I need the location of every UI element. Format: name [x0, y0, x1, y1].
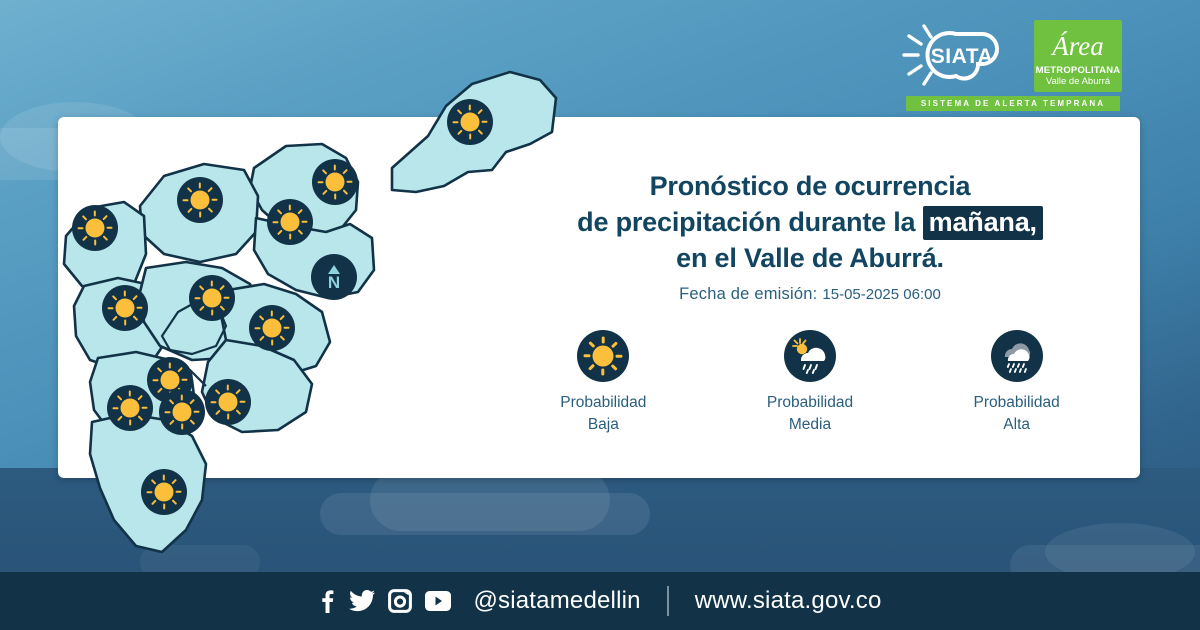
sun-ray — [171, 479, 177, 485]
sun-ray — [289, 205, 291, 211]
map-marker-sun-icon — [72, 205, 118, 251]
sun-ray — [342, 169, 348, 175]
sun-ray — [151, 479, 157, 485]
sun-ray — [212, 199, 218, 201]
siata-tagline: SISTEMA DE ALERTA TEMPRANA — [906, 96, 1120, 111]
sun-ray — [211, 401, 217, 403]
sun-ray — [318, 181, 324, 183]
sun-ray — [147, 491, 153, 493]
sun-ray — [227, 385, 229, 391]
sun-ray — [171, 499, 177, 505]
sun-ray — [187, 187, 193, 193]
emission-value: 15-05-2025 06:00 — [822, 286, 940, 303]
map-marker-sun-icon — [159, 389, 205, 435]
sun-ray — [112, 295, 118, 301]
siata-logo-icon: SIATA — [898, 18, 1026, 92]
legend-item-media: Probabilidad Media — [727, 330, 892, 436]
sun-ray — [334, 165, 336, 171]
sun-ray — [207, 187, 213, 193]
sun-ray — [129, 420, 131, 426]
sun-ray — [107, 227, 113, 229]
legend-media-line2: Media — [727, 414, 892, 436]
sun-ray — [279, 315, 285, 321]
twitter-icon[interactable] — [349, 589, 375, 613]
map-marker-sun-icon — [267, 199, 313, 245]
footer-bar: @siatamedellin www.siata.gov.co — [0, 572, 1200, 630]
sun-ray — [157, 387, 163, 393]
sun-ray — [137, 395, 143, 401]
sun-core — [263, 319, 282, 338]
sun-ray — [169, 399, 175, 405]
sun-ray — [102, 215, 108, 221]
sun-ray — [132, 315, 138, 321]
compass-rose-icon: N — [311, 254, 357, 300]
sun-cloud-rain-glyph — [784, 330, 836, 382]
sun-ray — [259, 335, 265, 341]
valle-de-aburra-map: N — [40, 40, 560, 570]
map-marker-sun-icon — [312, 159, 358, 205]
sun-ray — [189, 419, 195, 425]
sun-ray — [199, 212, 201, 218]
sun-core — [121, 399, 140, 418]
sun-core — [191, 191, 210, 210]
sun-ray — [117, 415, 123, 421]
area-metropolitana-logo: Área METROPOLITANA Valle de Aburrá — [1034, 20, 1122, 92]
sun-core — [203, 289, 222, 308]
sun-ray — [322, 189, 328, 195]
sun-ray — [297, 229, 303, 235]
sun-ray — [469, 105, 471, 111]
sun-ray — [271, 340, 273, 346]
sun-ray — [181, 424, 183, 430]
legend-baja-line2: Baja — [521, 414, 686, 436]
siata-wordmark: SIATA — [931, 45, 993, 68]
page-title: Pronóstico de ocurrencia de precipitació… — [500, 168, 1120, 276]
sun-ray — [347, 181, 353, 183]
sun-core — [161, 371, 180, 390]
sun-ray — [112, 315, 118, 321]
title-highlight: mañana, — [923, 206, 1043, 240]
sun-core — [461, 113, 480, 132]
website-url[interactable]: www.siata.gov.co — [695, 587, 882, 615]
sun-ray — [199, 285, 205, 291]
sun-core — [281, 213, 300, 232]
sun-cloud-rain-icon — [784, 330, 836, 382]
sun-ray — [94, 240, 96, 246]
sun-ray — [153, 379, 159, 381]
sun-ray — [457, 129, 463, 135]
map-marker-sun-icon — [189, 275, 235, 321]
map-marker-sun-icon — [177, 177, 223, 223]
sun-core — [116, 299, 135, 318]
sun-ray — [302, 221, 308, 223]
sun-ray — [289, 234, 291, 240]
sun-ray — [176, 491, 182, 493]
sun-ray — [235, 409, 241, 415]
youtube-icon[interactable] — [425, 591, 451, 611]
map-marker-sun-icon — [205, 379, 251, 425]
sun-ray — [255, 327, 261, 329]
cloud-rain-icon — [991, 330, 1043, 382]
legend-alta-line1: Probabilidad — [934, 392, 1099, 414]
sun-ray — [277, 209, 283, 215]
sun-ray — [124, 291, 126, 297]
map-marker-sun-icon — [102, 285, 148, 331]
legend-item-alta: Probabilidad Alta — [934, 330, 1099, 436]
sun-ray — [271, 311, 273, 317]
sun-ray — [199, 305, 205, 311]
legend-media-line1: Probabilidad — [727, 392, 892, 414]
sun-ray — [137, 307, 143, 309]
sun-ray — [195, 297, 201, 299]
sun-ray — [82, 215, 88, 221]
sun-ray — [284, 327, 290, 329]
sun-ray — [219, 305, 225, 311]
sun-ray — [163, 475, 165, 481]
sun-ray — [334, 194, 336, 200]
sun-ray — [117, 395, 123, 401]
title-line-2-text: de precipitación durante la — [577, 207, 915, 237]
sun-ray — [240, 401, 246, 403]
area-script-text: Área — [1050, 31, 1103, 61]
sun-ray — [477, 129, 483, 135]
sun-ray — [211, 310, 213, 316]
sun-ray — [469, 134, 471, 140]
sun-ray — [187, 207, 193, 213]
sun-ray — [342, 189, 348, 195]
sun-ray — [273, 221, 279, 223]
sun-ray — [207, 207, 213, 213]
sun-ray — [82, 235, 88, 241]
sun-core — [326, 173, 345, 192]
sun-ray — [124, 320, 126, 326]
social-icons — [318, 589, 451, 613]
sun-core — [155, 483, 174, 502]
facebook-icon[interactable] — [318, 589, 336, 613]
logo-group: SIATA Área METROPOLITANA Valle de Aburrá… — [898, 18, 1124, 114]
sun-ray — [477, 109, 483, 115]
social-handle[interactable]: @siatamedellin — [473, 587, 640, 615]
sun-ray — [322, 169, 328, 175]
cloud-rain-glyph — [991, 330, 1043, 382]
sun-ray — [219, 285, 225, 291]
sun-ray — [224, 297, 230, 299]
sun-ray — [165, 411, 171, 413]
sun-ray — [199, 183, 201, 189]
sun-ray — [142, 407, 148, 409]
sun-ray — [132, 295, 138, 301]
map-marker-sun-icon — [141, 469, 187, 515]
title-line-2: de precipitación durante la mañana, — [500, 204, 1120, 240]
legend-alta-line2: Alta — [934, 414, 1099, 436]
map-marker-sun-icon — [447, 99, 493, 145]
sun-ray — [129, 391, 131, 397]
infographic-stage: N SIATA Área METROPOLITANA Valle de Abur… — [0, 0, 1200, 630]
sun-ray — [108, 307, 114, 309]
sun-ray — [169, 419, 175, 425]
sun-ray — [259, 315, 265, 321]
map-marker-sun-icon — [107, 385, 153, 431]
sun-ray — [189, 399, 195, 405]
sun-ray — [102, 235, 108, 241]
legend-baja-line1: Probabilidad — [521, 392, 686, 414]
sun-ray — [215, 389, 221, 395]
sun-ray — [169, 363, 171, 369]
sun-core — [86, 219, 105, 238]
compass-north-label: N — [328, 275, 340, 290]
probability-legend: Probabilidad Baja — [500, 330, 1120, 436]
sun-ray — [482, 121, 488, 123]
area-line-2: Valle de Aburrá — [1046, 76, 1110, 87]
sun-core — [219, 393, 238, 412]
sun-ray — [211, 281, 213, 287]
instagram-icon[interactable] — [388, 589, 412, 613]
sun-ray — [163, 504, 165, 510]
sun-ray — [183, 199, 189, 201]
sun-ray — [453, 121, 459, 123]
sun-ray — [78, 227, 84, 229]
sun-ray — [137, 415, 143, 421]
sun-ray — [227, 414, 229, 420]
sun-ray — [181, 395, 183, 401]
map-marker-sun-icon — [249, 305, 295, 351]
sun-ray — [151, 499, 157, 505]
legend-item-baja: Probabilidad Baja — [521, 330, 686, 436]
sun-ray — [194, 411, 200, 413]
sun-ray — [157, 367, 163, 373]
sun-ray — [279, 335, 285, 341]
emission-row: Fecha de emisión:15-05-2025 06:00 — [500, 285, 1120, 304]
sun-ray — [177, 367, 183, 373]
sun-core — [173, 403, 192, 422]
emission-label: Fecha de emisión: — [679, 285, 817, 303]
footer-divider — [667, 586, 669, 616]
sun-ray — [113, 407, 119, 409]
sun-ray — [215, 409, 221, 415]
sun-ray — [457, 109, 463, 115]
sun-ray — [297, 209, 303, 215]
area-script-icon: Área — [1034, 23, 1122, 67]
sun-icon — [577, 330, 629, 382]
legend-label-media: Probabilidad Media — [727, 392, 892, 436]
legend-label-baja: Probabilidad Baja — [521, 392, 686, 436]
sun-ray — [235, 389, 241, 395]
sun-ray — [277, 229, 283, 235]
sun-ray — [182, 379, 188, 381]
title-line-3: en el Valle de Aburrá. — [500, 240, 1120, 276]
sun-core — [593, 346, 614, 367]
sun-ray — [94, 211, 96, 217]
title-line-1: Pronóstico de ocurrencia — [500, 168, 1120, 204]
legend-label-alta: Probabilidad Alta — [934, 392, 1099, 436]
